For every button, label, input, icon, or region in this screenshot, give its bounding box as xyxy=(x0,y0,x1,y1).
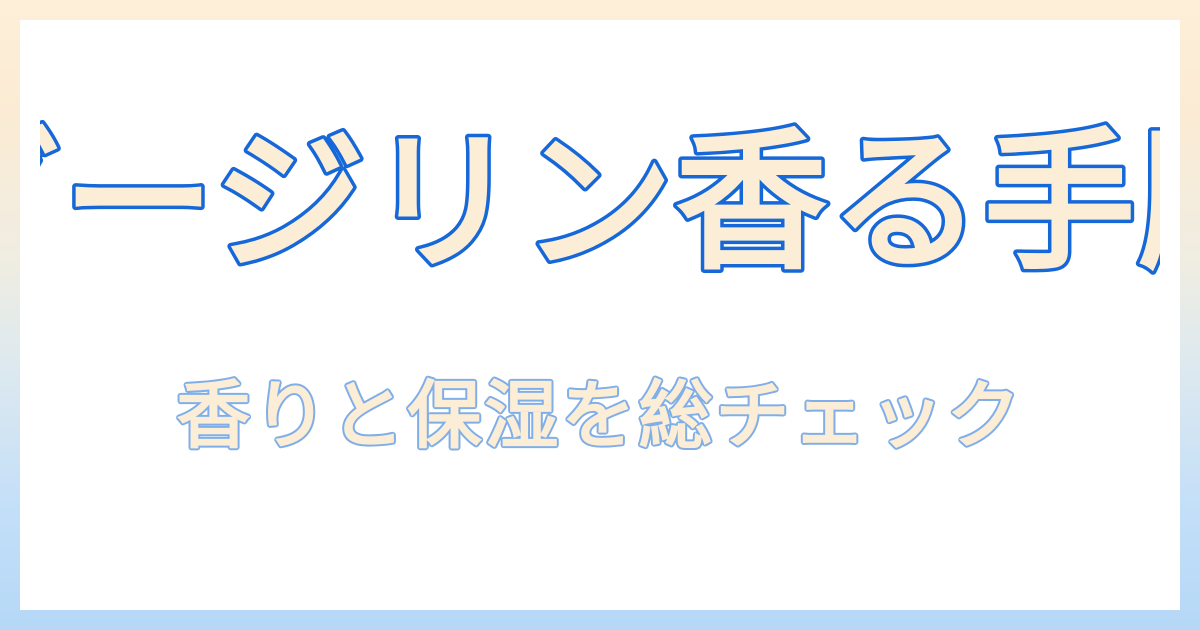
page-title-text: ダージリン香る手肌 xyxy=(40,115,1160,291)
page-subtitle-text: 香りと保湿を総チェック xyxy=(177,373,1024,459)
poster-canvas: ダージリン香る手肌 香りと保湿を総チェック xyxy=(0,0,1200,630)
text-stack: ダージリン香る手肌 香りと保湿を総チェック xyxy=(20,115,1180,471)
content-card: ダージリン香る手肌 香りと保湿を総チェック xyxy=(20,20,1180,610)
page-title: ダージリン香る手肌 xyxy=(40,115,1160,305)
page-subtitle: 香りと保湿を総チェック xyxy=(160,361,1040,471)
